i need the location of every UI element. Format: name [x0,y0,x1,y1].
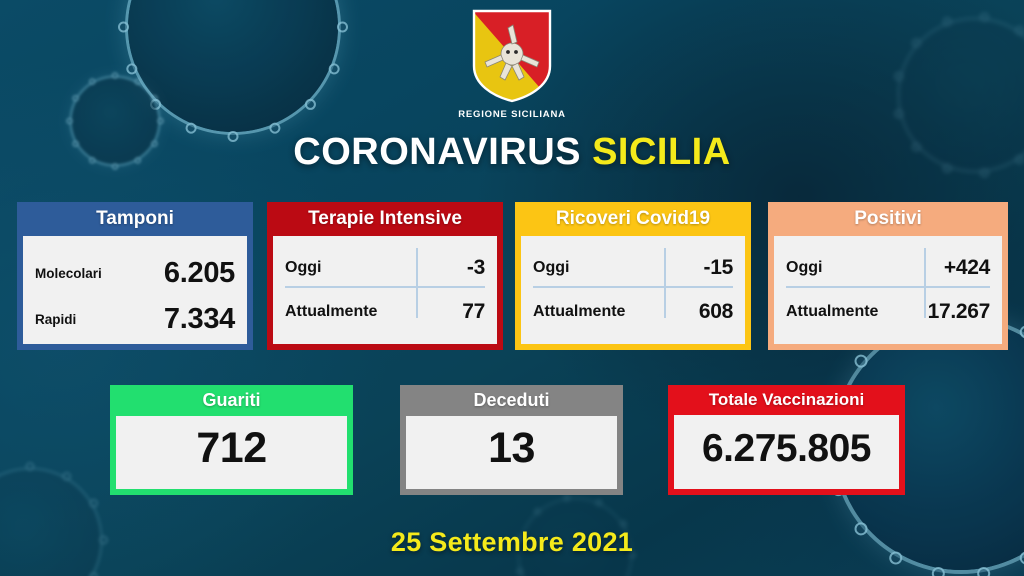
stat-label: Rapidi [35,312,76,327]
virus-particle-icon [0,470,100,576]
card-body-ricoveri-covid19: Oggi -15 Attualmente 608 [521,236,745,344]
stat-value: 712 [196,427,266,470]
card-body-terapie-intensive: Oggi -3 Attualmente 77 [273,236,497,344]
card-body-deceduti: 13 [406,416,617,489]
card-title-totale-vaccinazioni: Totale Vaccinazioni [668,385,905,415]
card-body-totale-vaccinazioni: 6.275.805 [674,415,899,489]
stat-value: -3 [467,256,485,280]
infographic-stage: REGIONE SICILIANA CORONAVIRUS SICILIA Ta… [0,0,1024,576]
stat-label: Oggi [285,259,321,277]
stat-row: Attualmente 17.267 [786,290,990,334]
stat-label: Attualmente [285,303,377,321]
stat-card-totale-vaccinazioni: Totale Vaccinazioni 6.275.805 [668,385,905,495]
stat-value: 608 [699,300,733,324]
stat-label: Oggi [786,259,822,277]
stat-label: Attualmente [533,303,625,321]
stat-value: 7.334 [164,303,235,336]
card-body-tamponi: Molecolari 6.205 Rapidi 7.334 [23,236,247,344]
stat-label: Attualmente [786,303,878,321]
virus-spike-icon [26,462,35,471]
stat-card-deceduti: Deceduti 13 [400,385,623,495]
stat-row: Oggi -3 [285,246,485,290]
report-date: 25 Settembre 2021 [0,527,1024,558]
card-title-guariti: Guariti [110,385,353,416]
stat-value: 17.267 [928,300,990,324]
stat-card-guariti: Guariti 712 [110,385,353,495]
stat-row: Molecolari 6.205 [35,250,235,296]
title-accent: SICILIA [592,131,731,173]
title-main: CORONAVIRUS [293,131,581,173]
stat-row: Attualmente 608 [533,290,733,334]
card-title-tamponi: Tamponi [17,202,253,236]
stat-value: 13 [488,427,535,470]
stat-card-tamponi: Tamponi Molecolari 6.205 Rapidi 7.334 [17,202,253,350]
regional-crest-block: REGIONE SICILIANA [0,8,1024,120]
card-body-guariti: 712 [116,416,347,489]
stat-value: -15 [704,256,733,280]
stat-value: 77 [462,300,485,324]
stat-row: Oggi -15 [533,246,733,290]
stat-row: Attualmente 77 [285,290,485,334]
stat-card-ricoveri-covid19: Ricoveri Covid19 Oggi -15 Attualmente 60… [515,202,751,350]
stat-row: Rapidi 7.334 [35,296,235,342]
card-title-terapie-intensive: Terapie Intensive [267,202,503,236]
card-title-positivi: Positivi [768,202,1008,236]
card-title-ricoveri-covid19: Ricoveri Covid19 [515,202,751,236]
stat-label: Molecolari [35,266,102,281]
stat-card-positivi: Positivi Oggi +424 Attualmente 17.267 [768,202,1008,350]
sicily-trinacria-crest-icon [470,8,554,104]
crest-caption: REGIONE SICILIANA [458,109,566,120]
stat-row: Oggi +424 [786,246,990,290]
card-body-positivi: Oggi +424 Attualmente 17.267 [774,236,1002,344]
stat-card-terapie-intensive: Terapie Intensive Oggi -3 Attualmente 77 [267,202,503,350]
card-title-deceduti: Deceduti [400,385,623,416]
stat-value: 6.205 [164,257,235,290]
stat-label: Oggi [533,259,569,277]
stat-value: +424 [944,256,990,280]
page-title: CORONAVIRUS SICILIA [0,133,1024,171]
stat-value: 6.275.805 [702,429,871,468]
